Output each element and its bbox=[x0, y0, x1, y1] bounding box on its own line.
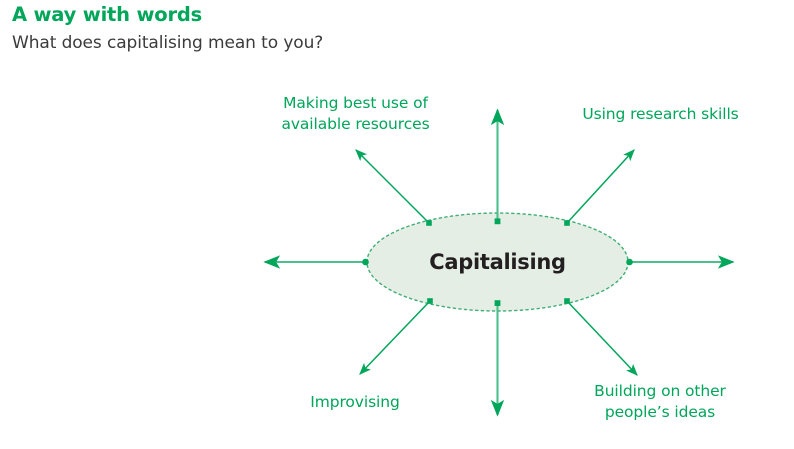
branch-label-using-research-skills: Using research skills bbox=[558, 104, 763, 125]
spoke-up bbox=[495, 110, 501, 224]
spoke-lower-right bbox=[564, 298, 637, 375]
spoke-down bbox=[495, 300, 501, 415]
branch-label-building-on-ideas: Building on other people’s ideas bbox=[560, 381, 760, 423]
branch-label-improvising: Improvising bbox=[245, 392, 465, 413]
branch-label-making-best-use: Making best use of available resources bbox=[258, 93, 453, 135]
spoke-upper-right bbox=[564, 150, 634, 226]
spoke-upper-left bbox=[356, 150, 432, 226]
spoke-lower-left bbox=[360, 298, 433, 374]
spoke-right bbox=[626, 259, 733, 266]
mind-map-diagram: Capitalising Making best use of availabl… bbox=[0, 0, 794, 449]
center-node-ellipse bbox=[367, 213, 628, 311]
spoke-left bbox=[265, 259, 369, 266]
